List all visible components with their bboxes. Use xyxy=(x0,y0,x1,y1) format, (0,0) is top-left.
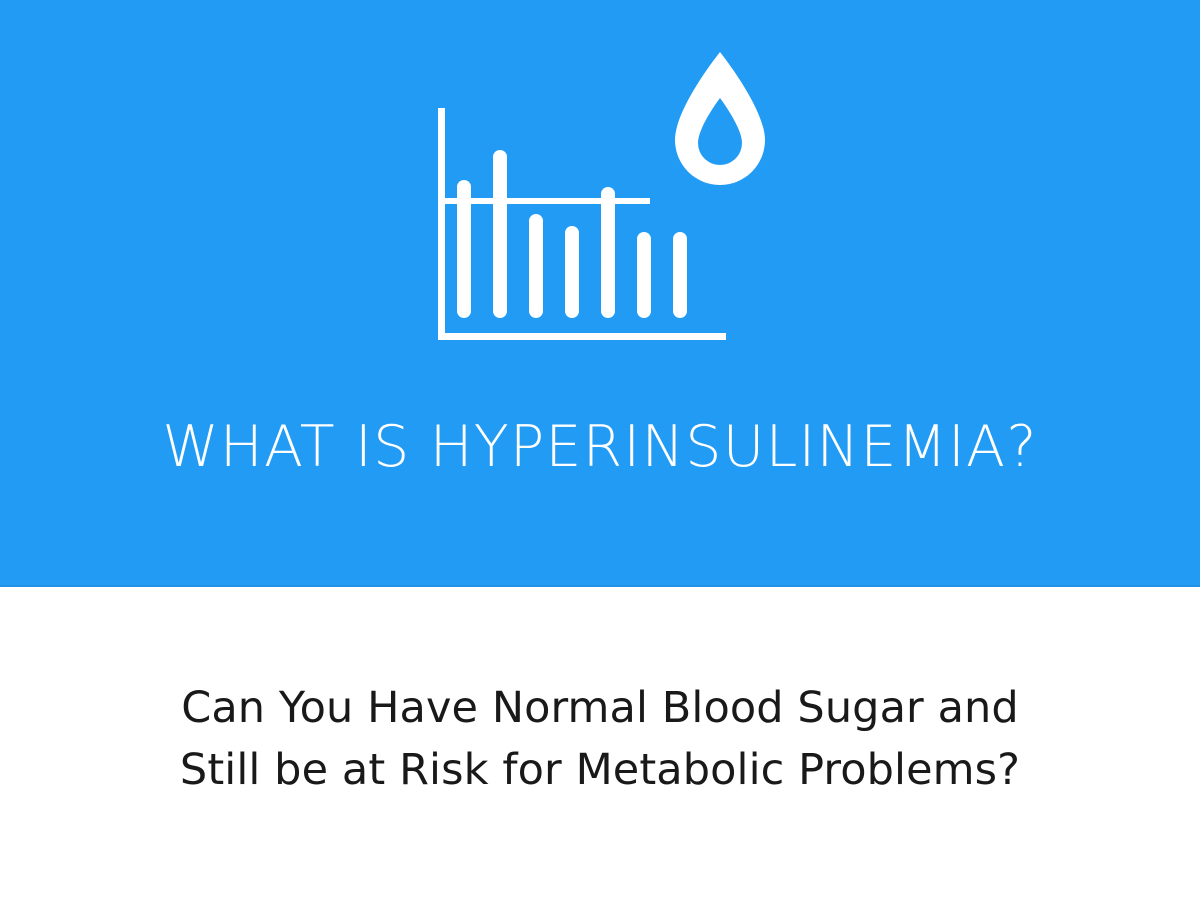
bar-2 xyxy=(493,150,507,318)
blood-sugar-chart-icon xyxy=(430,46,770,346)
bar-6 xyxy=(637,232,651,318)
bar-3 xyxy=(529,214,543,318)
subtitle-line-1: Can You Have Normal Blood Sugar and xyxy=(0,677,1200,739)
x-axis xyxy=(438,333,726,340)
blood-drop-icon xyxy=(675,52,765,185)
bar-7 xyxy=(673,232,687,318)
bar-5 xyxy=(601,187,615,318)
lower-section: Can You Have Normal Blood Sugar and Stil… xyxy=(0,587,1200,900)
bar-1 xyxy=(457,180,471,318)
subtitle-line-2: Still be at Risk for Metabolic Problems? xyxy=(0,739,1200,801)
bar-4 xyxy=(565,226,579,318)
infographic-page: WHAT IS HYPERINSULINEMIA? Can You Have N… xyxy=(0,0,1200,900)
y-axis xyxy=(438,108,445,340)
page-title: WHAT IS HYPERINSULINEMIA? xyxy=(0,410,1200,484)
subtitle: Can You Have Normal Blood Sugar and Stil… xyxy=(0,677,1200,801)
hero-icon-container xyxy=(0,46,1200,366)
chart-bars xyxy=(457,150,687,318)
hero-banner: WHAT IS HYPERINSULINEMIA? xyxy=(0,0,1200,587)
